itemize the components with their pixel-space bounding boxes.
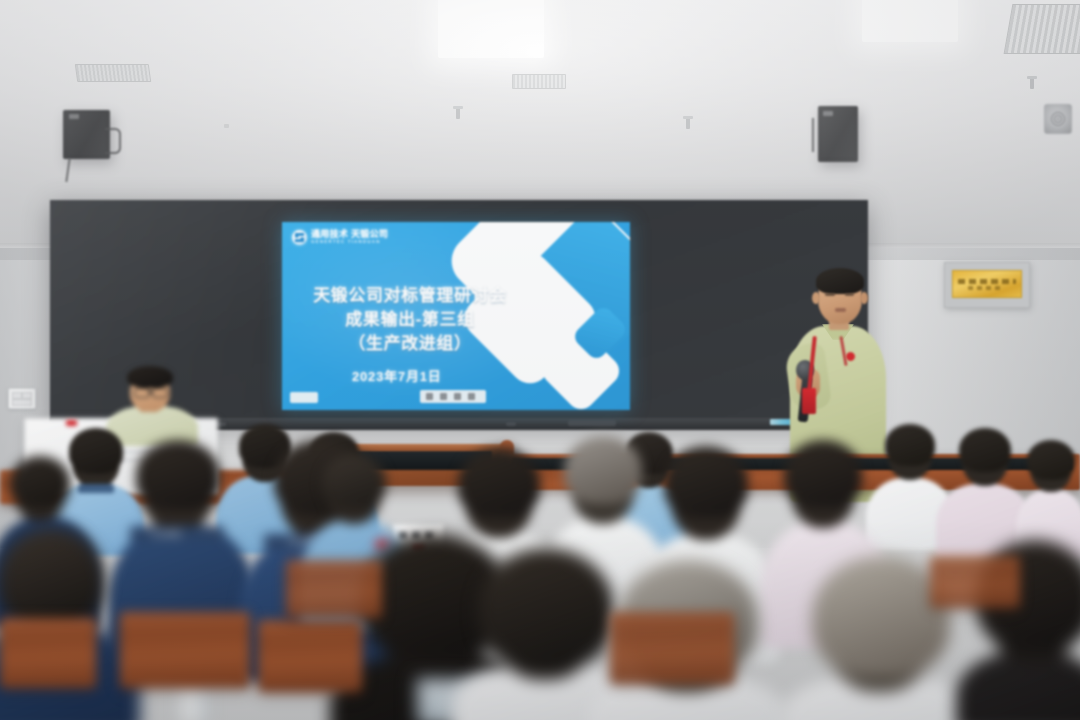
wall-detector <box>1044 104 1072 134</box>
slide-title-line-3: （生产改进组） <box>286 332 534 356</box>
presentation-slide: 通用技术 天锻公司 GENERTEC TIANDUAN 天锻公司对标管理研讨会 … <box>282 222 630 410</box>
company-logo-text: 通用技术 天锻公司 GENERTEC TIANDUAN <box>311 230 388 245</box>
wall-plaque <box>952 270 1022 298</box>
audience-hair <box>885 424 935 466</box>
display-control-bar[interactable] <box>568 420 616 426</box>
slide-title-line-1: 天锻公司对标管理研讨会 <box>286 284 534 308</box>
glasses-icon <box>152 388 168 398</box>
company-logo: 通用技术 天锻公司 GENERTEC TIANDUAN <box>292 230 388 245</box>
sprinkler-head <box>1030 78 1034 89</box>
light-switch[interactable] <box>12 399 32 406</box>
genertec-logo-mark <box>292 230 307 245</box>
audience-hair <box>458 448 540 518</box>
ceiling-vent <box>512 74 566 89</box>
whiteboard-magnet <box>66 420 77 426</box>
seated-moderator <box>104 366 200 428</box>
audience-hair <box>10 456 70 508</box>
plaque-text-line <box>958 279 1015 284</box>
audience-hair <box>784 440 862 508</box>
slide-date: 2023年7月1日 <box>352 366 442 385</box>
slide-corner-tag[interactable] <box>290 392 318 403</box>
speaker-bracket-left <box>105 128 121 154</box>
marker-icon[interactable] <box>454 393 461 400</box>
pointer-icon[interactable] <box>440 393 447 400</box>
slide-title-line-2: 成果输出-第三组 <box>286 308 534 332</box>
company-name-cn: 通用技术 天锻公司 <box>311 230 388 239</box>
ceiling-blemish <box>224 124 229 128</box>
display-sensor-strip <box>506 422 516 426</box>
chair-back <box>610 612 734 684</box>
led-panel-light <box>862 0 958 42</box>
light-switch-panel[interactable] <box>8 388 36 409</box>
lapel-flag-pin <box>846 352 855 361</box>
audience-hair <box>664 446 748 518</box>
wall-speaker-right <box>818 106 858 162</box>
light-switch[interactable] <box>12 392 22 399</box>
speaker-bracket-right <box>812 118 822 152</box>
presenter-badge <box>802 388 816 414</box>
audience-hair <box>959 428 1011 472</box>
glasses-icon <box>134 388 150 398</box>
company-name-en: GENERTEC TIANDUAN <box>311 240 388 245</box>
chair-back <box>930 556 1020 608</box>
audience-hair <box>322 454 386 508</box>
lanyard-text: CJHN <box>152 529 182 539</box>
conference-room-photo: 通用技术 天锻公司 GENERTEC TIANDUAN 天锻公司对标管理研讨会 … <box>0 0 1080 720</box>
audience-hair <box>136 440 220 510</box>
plaque-text-line <box>968 286 1003 290</box>
chair-back <box>258 620 362 692</box>
presenter-eye <box>845 293 854 296</box>
ceiling-vent <box>75 64 152 82</box>
presenter-mouth <box>835 308 846 312</box>
pen-icon[interactable] <box>426 393 433 400</box>
chair-back <box>120 612 250 688</box>
ceiling-vent <box>1004 4 1080 54</box>
audience-member <box>1016 440 1080 556</box>
glasses-bridge <box>148 391 153 393</box>
chair-back <box>0 618 96 688</box>
light-switch[interactable] <box>22 392 32 399</box>
wall-speaker-left <box>63 110 110 159</box>
menu-icon[interactable] <box>468 393 475 400</box>
chair-back <box>286 560 382 618</box>
presenter-eye <box>825 293 835 296</box>
sprinkler-head <box>456 108 460 119</box>
audience-hair <box>0 528 104 632</box>
speaker-grille <box>68 114 106 155</box>
presenter-hair <box>816 268 864 294</box>
led-panel-light <box>438 0 544 58</box>
presenter-ear <box>860 292 868 304</box>
presentation-toolbar[interactable] <box>420 390 486 403</box>
presenter-ear <box>812 292 820 304</box>
audience-hair-grey <box>564 436 642 504</box>
audience-hair <box>1027 440 1075 480</box>
speaker-grille <box>822 110 854 157</box>
sprinkler-head <box>686 118 690 129</box>
moderator-hair <box>127 366 173 388</box>
